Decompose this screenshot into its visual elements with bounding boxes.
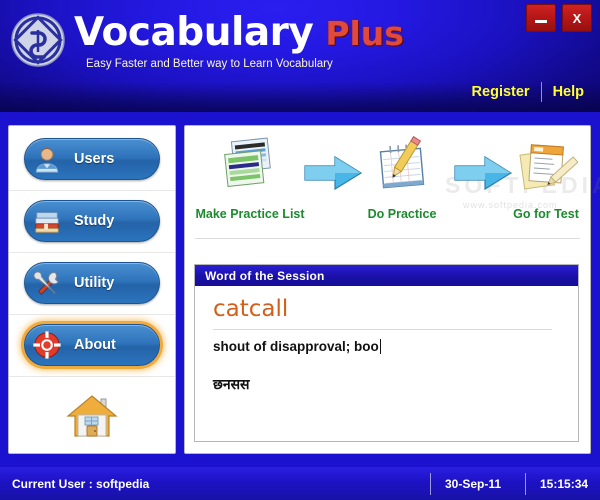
sidebar-item-about[interactable]: About (24, 324, 160, 366)
text-caret (380, 339, 381, 354)
header-link-divider (541, 82, 542, 102)
status-date: 30-Sep-11 (430, 473, 501, 495)
word-of-session-panel: Word of the Session catcall shout of dis… (194, 264, 579, 442)
home-icon (65, 391, 119, 441)
tools-icon (32, 268, 62, 298)
status-bar: Current User : softpedia 30-Sep-11 15:15… (0, 467, 600, 500)
status-current-user: Current User : softpedia (12, 477, 149, 491)
body-area: Users Study (0, 112, 600, 467)
sidebar-panel: Users Study (8, 125, 176, 454)
brand-accent: Plus (325, 14, 404, 53)
word-definition-text: shout of disapproval; boo (213, 339, 379, 354)
register-link[interactable]: Register (472, 84, 530, 100)
user-icon (32, 144, 62, 174)
test-paper-pencil-icon (514, 136, 578, 198)
workflow-strip: SOFTPEDIA www.softpedia.com (195, 126, 580, 239)
workflow-step-go-for-test[interactable]: Go for Test (491, 136, 600, 221)
stacked-lists-icon (218, 136, 282, 198)
brand-title: VocabularyPlus (74, 10, 404, 55)
sidebar-row-study: Study (9, 191, 175, 253)
word-of-session-body: catcall shout of disapproval; boo छनसस (195, 286, 578, 394)
app-header: X VocabularyPlus Easy Faster and Better … (0, 0, 600, 112)
word-term: catcall (213, 296, 552, 330)
main-panel: SOFTPEDIA www.softpedia.com (184, 125, 591, 454)
sidebar-item-utility[interactable]: Utility (24, 262, 160, 304)
sidebar-item-label: Users (74, 151, 114, 167)
sidebar-item-users[interactable]: Users (24, 138, 160, 180)
vocabulary-plus-logo-icon (10, 12, 66, 68)
sidebar-row-utility: Utility (9, 253, 175, 315)
sidebar-item-label: Study (74, 213, 114, 229)
workflow-step-make-practice-list[interactable]: Make Practice List (195, 136, 305, 221)
help-link[interactable]: Help (553, 84, 584, 100)
status-time: 15:15:34 (525, 473, 588, 495)
sidebar-item-study[interactable]: Study (24, 200, 160, 242)
header-links: Register Help (472, 82, 584, 102)
workflow-step-label: Make Practice List (195, 207, 305, 221)
notepad-pencil-icon (370, 136, 434, 198)
app-tagline: Easy Faster and Better way to Learn Voca… (86, 58, 333, 70)
word-of-session-title: Word of the Session (195, 265, 578, 286)
lifering-icon (32, 330, 62, 360)
window-controls: X (526, 4, 592, 32)
home-button[interactable] (9, 377, 175, 441)
workflow-step-do-practice[interactable]: Do Practice (347, 136, 457, 221)
application-window: X VocabularyPlus Easy Faster and Better … (0, 0, 600, 500)
sidebar-row-users: Users (9, 126, 175, 191)
sidebar-row-about: About (9, 315, 175, 377)
workflow-step-label: Go for Test (491, 207, 600, 221)
word-native-translation: छनसस (213, 375, 560, 394)
workflow-step-label: Do Practice (347, 207, 457, 221)
sidebar-item-label: Utility (74, 275, 114, 291)
brand-main: Vocabulary (74, 10, 313, 55)
minimize-icon (535, 20, 547, 23)
sidebar-item-label: About (74, 337, 116, 353)
word-definition-field[interactable]: shout of disapproval; boo (213, 339, 560, 354)
minimize-button[interactable] (526, 4, 556, 32)
books-icon (32, 206, 62, 236)
close-button[interactable]: X (562, 4, 592, 32)
close-icon: X (573, 12, 582, 25)
